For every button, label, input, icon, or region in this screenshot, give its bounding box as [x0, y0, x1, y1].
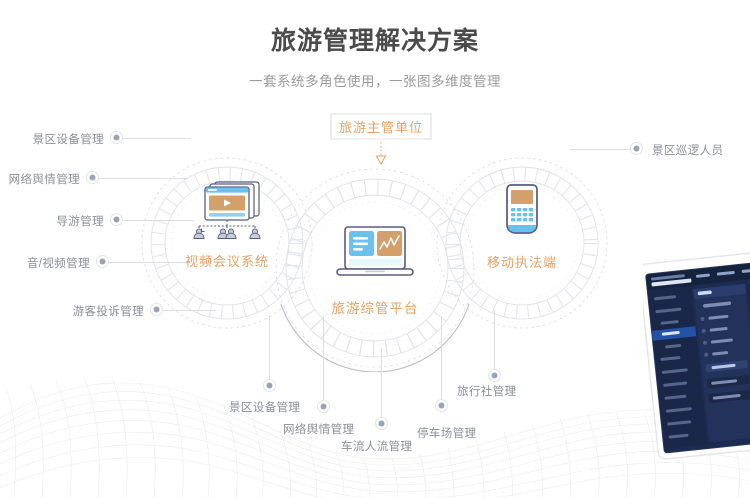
dot-left-1[interactable]	[110, 131, 123, 144]
connector-bottom-3	[380, 348, 383, 420]
header: 旅游管理解决方案 一套系统多角色使用，一张图多维度管理	[0, 0, 750, 90]
label-left-5: 游客投诉管理	[0, 303, 144, 319]
dot-bottom-4[interactable]	[435, 399, 448, 412]
connector-bottom-5	[493, 310, 496, 372]
infographic-canvas: 旅游管理解决方案 一套系统多角色使用，一张图多维度管理 旅游主	[0, 0, 750, 498]
label-left-1: 景区设备管理	[0, 131, 104, 147]
connector-left-1	[121, 137, 191, 140]
video-conference-icon	[181, 178, 273, 240]
label-left-4: 音/视频管理	[0, 255, 90, 271]
label-bottom-3: 车流人流管理	[341, 438, 412, 454]
dot-bottom-3[interactable]	[375, 417, 388, 430]
page-subtitle: 一套系统多角色使用，一张图多维度管理	[0, 70, 750, 90]
node-video-conference[interactable]: 视频会议系统	[167, 178, 287, 270]
node-tourism-platform[interactable]: 旅游综管平台	[315, 224, 435, 317]
label-bottom-1: 景区设备管理	[229, 399, 300, 415]
dot-bottom-2[interactable]	[317, 400, 330, 413]
label-bottom-2: 网络舆情管理	[283, 421, 354, 437]
node-label-video-conference: 视频会议系统	[167, 251, 287, 270]
connector-bottom-1	[268, 316, 271, 382]
node-label-mobile-enforcement: 移动执法端	[462, 252, 582, 271]
dot-right-1[interactable]	[630, 142, 643, 155]
dashboard-laptop-mockup[interactable]	[643, 252, 750, 498]
label-left-3: 导游管理	[0, 213, 104, 229]
connector-bottom-2	[322, 316, 325, 403]
authority-to-platform-arrow	[374, 142, 388, 166]
connector-bottom-4	[440, 316, 443, 402]
dot-left-4[interactable]	[96, 255, 109, 268]
label-right-1: 景区巡逻人员	[652, 142, 723, 158]
dot-left-3[interactable]	[110, 213, 123, 226]
connector-right-1	[570, 148, 632, 151]
laptop-chart-icon	[327, 224, 423, 286]
node-mobile-enforcement[interactable]: 移动执法端	[462, 183, 582, 271]
connector-left-5	[161, 309, 215, 312]
dot-left-2[interactable]	[86, 171, 99, 184]
handheld-device-icon	[495, 183, 549, 241]
page-title: 旅游管理解决方案	[0, 26, 750, 56]
dot-left-5[interactable]	[150, 303, 163, 316]
dot-bottom-5[interactable]	[488, 369, 501, 382]
authority-box[interactable]: 旅游主管单位	[330, 113, 432, 140]
label-bottom-4: 停车场管理	[417, 425, 477, 441]
label-left-2: 网络舆情管理	[0, 171, 80, 187]
label-bottom-5: 旅行社管理	[457, 383, 517, 399]
dot-bottom-1[interactable]	[263, 379, 276, 392]
authority-label: 旅游主管单位	[330, 113, 432, 140]
node-label-tourism-platform: 旅游综管平台	[315, 297, 435, 317]
